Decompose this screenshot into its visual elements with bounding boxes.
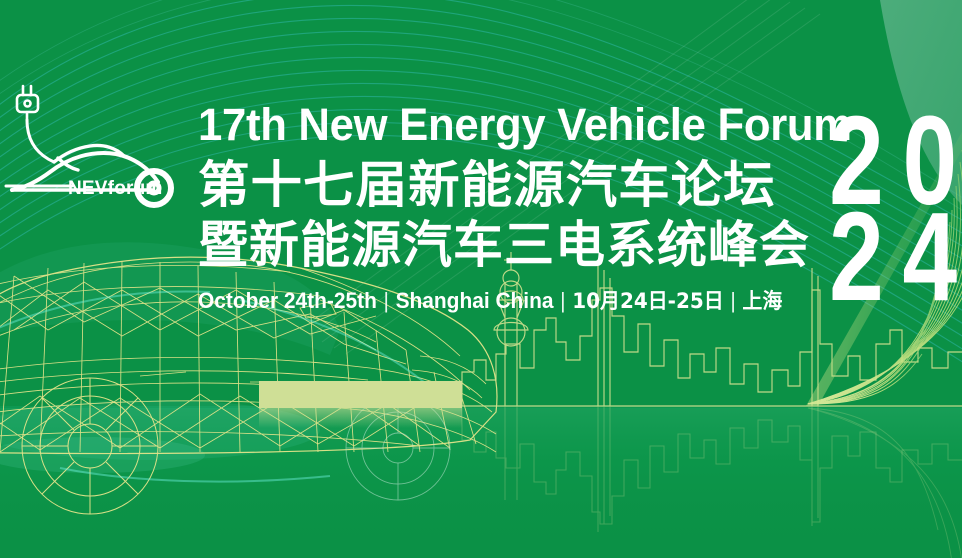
title-chinese-line1: 第十七届新能源汽车论坛 [198, 156, 857, 214]
dateline-separator-2: | [554, 288, 573, 313]
dateline-separator-1: | [377, 288, 396, 313]
year-badge-2024: 2 0 2 4 [826, 104, 962, 304]
poster-text-block: 17th New Energy Vehicle Forum 第十七届新能源汽车论… [198, 100, 838, 314]
logo-wordmark: NEVforum [68, 178, 163, 200]
title-english: 17th New Energy Vehicle Forum [198, 100, 819, 150]
logo-text-nev: NEV [68, 178, 108, 199]
event-poster: 2 0 2 4 [0, 0, 962, 558]
location-english: Shanghai China [396, 288, 554, 313]
title-chinese-line2: 暨新能源汽车三电系统峰会 [198, 216, 838, 274]
logo-text-forum: forum [108, 178, 163, 199]
year-digit-4: 4 [902, 186, 957, 304]
road-bar [259, 381, 462, 408]
year-digit-2b: 2 [829, 186, 880, 304]
dateline: October 24th-25th|Shanghai China|10月24日-… [198, 288, 806, 314]
road-bar-reflection [259, 408, 462, 428]
charging-plug-icon [17, 86, 38, 120]
date-chinese: 10月24日-25日 [572, 289, 723, 313]
location-chinese: 上海 [742, 289, 782, 313]
date-english: October 24th-25th [198, 288, 377, 313]
dateline-separator-3: | [724, 288, 743, 313]
